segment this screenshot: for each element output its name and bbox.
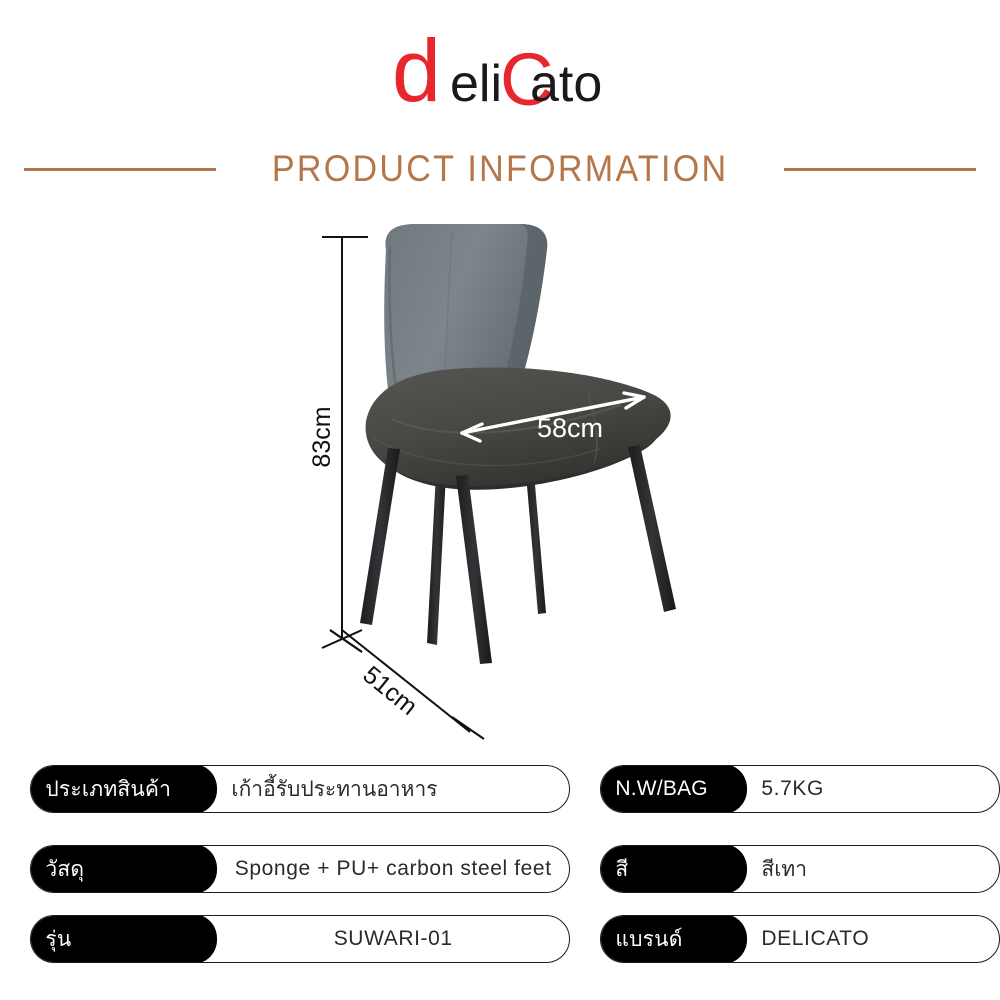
spec-value-net-weight: 5.7KG [747,766,999,812]
dimension-depth-label: 51cm [357,661,422,721]
spec-key-material: วัสดุ [30,845,217,893]
logo-svg: d eli C ato [390,29,610,119]
dimension-height-label: 83cm [308,406,336,467]
page-title: PRODUCT INFORMATION [272,148,729,190]
chair-seat [366,367,671,489]
delicato-logo-mark: d eli C ato [390,29,610,119]
logo-letters-ato: ato [530,55,602,113]
spec-key-model: รุ่น [30,915,217,963]
product-image-area: 83cm 58cm 51cm [0,205,1000,750]
spec-value-brand: DELICATO [747,916,999,962]
spec-key-net-weight: N.W/BAG [600,765,747,813]
spec-row-brand: แบรนด์ DELICATO [600,915,1000,963]
spec-value-color: สีเทา [747,846,999,892]
chair-illustration: 83cm 58cm 51cm [0,205,1000,750]
spec-row-material: วัสดุ Sponge + PU+ carbon steel feet [30,845,570,893]
spec-row-net-weight: N.W/BAG 5.7KG [600,765,1000,813]
product-information-page: d eli C ato PRODUCT INFORMATION [0,0,1000,1000]
dimension-width-label: 58cm [537,413,603,443]
spec-key-color: สี [600,845,747,893]
spec-key-brand: แบรนด์ [600,915,747,963]
spec-row-product-type: ประเภทสินค้า เก้าอี้รับประทานอาหาร [30,765,570,813]
spec-row-model: รุ่น SUWARI-01 [30,915,570,963]
title-rule-right [784,168,976,171]
spec-value-product-type: เก้าอี้รับประทานอาหาร [217,766,569,812]
specification-table: ประเภทสินค้า เก้าอี้รับประทานอาหาร วัสดุ… [30,765,970,980]
spec-value-material: Sponge + PU+ carbon steel feet [217,846,569,892]
logo-letter-d: d [392,29,441,119]
section-title-row: PRODUCT INFORMATION [0,141,1000,197]
title-rule-left [24,168,216,171]
spec-key-product-type: ประเภทสินค้า [30,765,217,813]
spec-row-color: สี สีเทา [600,845,1000,893]
logo-letters-eli: eli [450,55,502,113]
spec-value-model: SUWARI-01 [217,916,569,962]
brand-logo: d eli C ato [0,26,1000,122]
dimension-depth [330,630,484,739]
